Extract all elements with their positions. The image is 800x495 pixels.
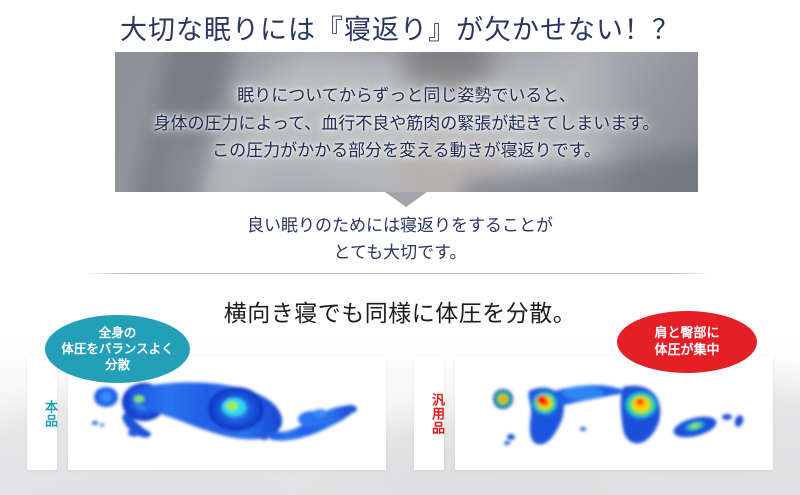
sub-message: 良い眠りのためには寝返りをすることが とても大切です。 xyxy=(0,212,800,266)
product-badge-line-1: 全身の xyxy=(61,325,173,341)
product-badge-text: 全身の 体圧をバランスよく 分散 xyxy=(61,325,173,373)
page-title: 大切な眠りには『寝返り』が欠かせない！？ xyxy=(0,8,800,47)
hero-caption-line-2: 身体の圧力によって、血行不良や筋肉の緊張が起きてしまいます。 xyxy=(115,110,698,138)
page-root: 大切な眠りには『寝返り』が欠かせない！？ 眠りについてからずっと同じ姿勢でいると… xyxy=(0,0,800,495)
hero-caption: 眠りについてからずっと同じ姿勢でいると、 身体の圧力によって、血行不良や筋肉の緊… xyxy=(115,82,698,165)
sub-message-line-1: 良い眠りのためには寝返りをすることが xyxy=(0,212,800,239)
product-badge: 全身の 体圧をバランスよく 分散 xyxy=(45,315,190,383)
generic-badge-line-2: 体圧が集中 xyxy=(654,342,719,359)
generic-pressure-map-card xyxy=(455,357,773,470)
generic-badge-line-1: 肩と臀部に xyxy=(654,325,719,342)
hero-caption-line-1: 眠りについてからずっと同じ姿勢でいると、 xyxy=(115,82,698,110)
comparison-section: 横向き寝でも同様に体圧を分散。 本品 xyxy=(0,274,800,495)
generic-label-card: 汎用品 xyxy=(414,357,444,470)
product-badge-line-2: 体圧をバランスよく xyxy=(61,341,173,357)
generic-side-label: 汎用品 xyxy=(414,382,444,446)
generic-badge-text: 肩と臀部に 体圧が集中 xyxy=(654,325,719,358)
generic-badge: 肩と臀部に 体圧が集中 xyxy=(617,311,757,373)
intro-section: 大切な眠りには『寝返り』が欠かせない！？ 眠りについてからずっと同じ姿勢でいると… xyxy=(0,0,800,273)
pressure-map-generic xyxy=(455,357,773,470)
hero-photo-panel: 眠りについてからずっと同じ姿勢でいると、 身体の圧力によって、血行不良や筋肉の緊… xyxy=(115,52,698,192)
product-side-label: 本品 xyxy=(27,391,57,437)
product-label-card: 本品 xyxy=(27,357,57,470)
product-badge-line-3: 分散 xyxy=(61,357,173,373)
sub-message-line-2: とても大切です。 xyxy=(0,239,800,266)
arrow-down-icon xyxy=(385,192,427,207)
hero-caption-line-3: この圧力がかかる部分を変える動きが寝返りです。 xyxy=(115,137,698,165)
